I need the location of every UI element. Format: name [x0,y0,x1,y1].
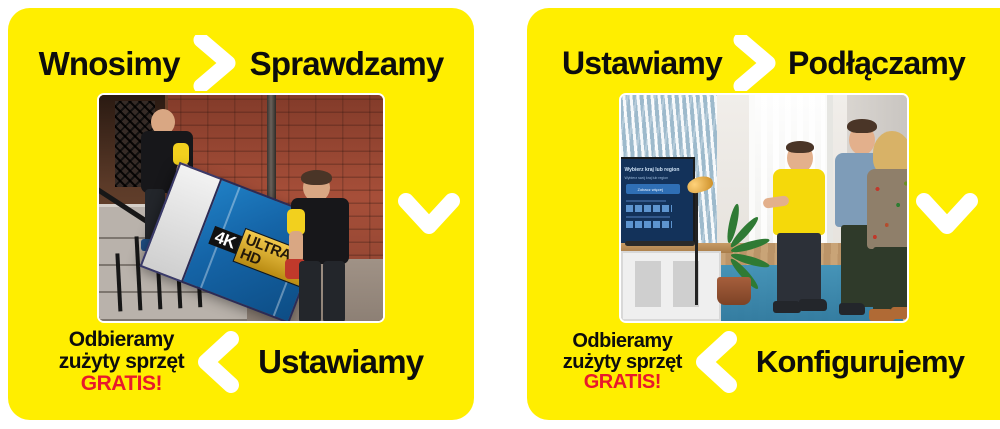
service-card-right: Ustawiamy Podłączamy [527,8,1000,420]
footer-row-right: Odbieramy zużyty sprzęt GRATIS! Konfigur… [527,320,1000,404]
tv-screen-title: Wybierz kraj lub region [625,167,680,173]
step-label-ustawiamy: Ustawiamy [258,343,423,381]
recycle-line-1: Odbieramy [69,328,174,351]
installer-figure [771,143,835,323]
step-label-podlaczamy: Podłączamy [788,47,965,79]
chevron-down-icon [916,193,978,237]
step-label-sprawdzamy: Sprawdzamy [250,47,444,80]
photo-delivery-stairs: 4K ULTRA HD [97,93,385,323]
recycle-gratis-label: GRATIS! [563,372,682,393]
customer-woman-figure [867,129,909,323]
recycle-note-left: Odbieramy zużyty sprzęt GRATIS! [59,329,184,394]
recycle-gratis-label: GRATIS! [59,373,184,395]
recycle-line-2: zużyty sprzęt [563,351,682,373]
infographic-stage: Wnosimy Sprawdzamy [0,0,1000,429]
photo-installation-living-room: Wybierz kraj lub region Wybierz swój kra… [619,93,909,323]
headline-row-right: Ustawiamy Podłączamy [527,35,1000,91]
chevron-left-icon [194,331,244,393]
headline-row-left: Wnosimy Sprawdzamy [8,35,474,91]
chevron-left-icon [692,331,742,393]
step-label-wnosimy: Wnosimy [39,47,180,80]
chevron-right-icon [192,35,238,91]
footer-row-left: Odbieramy zużyty sprzęt GRATIS! Ustawiam… [8,320,474,404]
chevron-down-icon [398,193,460,237]
recycle-line-1: Odbieramy [572,330,672,352]
recycle-note-right: Odbieramy zużyty sprzęt GRATIS! [563,331,682,393]
tv-screen-subtitle: Wybierz swój kraj lub region [625,176,669,180]
tv-screen: Wybierz kraj lub region Wybierz swój kra… [621,157,695,253]
tv-screen-button: Zobacz więcej [626,184,680,194]
step-label-ustawiamy-top: Ustawiamy [562,47,722,79]
tv-screen-button-label: Zobacz więcej [638,187,663,192]
recycle-line-2: zużyty sprzęt [59,350,184,373]
service-card-left: Wnosimy Sprawdzamy [8,8,474,420]
step-label-konfigurujemy: Konfigurujemy [756,344,964,380]
chevron-right-icon [732,35,778,91]
